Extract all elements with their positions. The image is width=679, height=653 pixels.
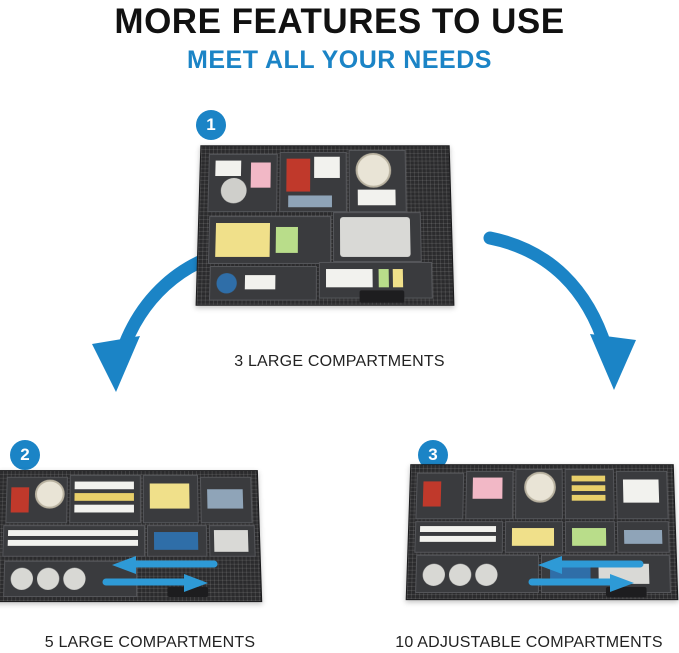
step-badge-2: 2 <box>10 440 40 470</box>
step-badge-1: 1 <box>196 110 226 140</box>
paper-clips <box>288 195 332 207</box>
red-box <box>423 481 442 506</box>
tape-rolls <box>37 568 60 590</box>
caption-3: 10 ADJUSTABLE COMPARTMENTS <box>379 634 679 652</box>
compartment <box>5 477 68 523</box>
caption-2: 5 LARGE COMPARTMENTS <box>0 634 300 652</box>
red-box <box>11 487 30 512</box>
tape-roll <box>221 178 247 203</box>
pencils <box>572 485 606 491</box>
blue-tack-box <box>216 273 237 293</box>
pencil-stack <box>75 482 134 490</box>
tape-rolls <box>10 568 33 590</box>
white-card <box>623 479 659 502</box>
pink-sticky-note <box>251 163 271 188</box>
compartment <box>209 266 317 301</box>
green-sticky-note <box>276 227 298 253</box>
white-erasers <box>326 269 373 287</box>
compartment <box>465 471 513 519</box>
compartment <box>565 521 615 553</box>
tape-rolls <box>475 564 498 586</box>
compartment <box>415 473 464 519</box>
pencils <box>74 493 133 501</box>
note-pad <box>314 157 340 178</box>
poster-canvas: MORE FEATURES TO USE MEET ALL YOUR NEEDS… <box>0 0 679 653</box>
white-strips <box>420 536 496 542</box>
compartment <box>209 525 256 557</box>
round-clock <box>35 480 65 509</box>
yellow-sticky-notes <box>150 483 190 508</box>
tape-rolls <box>422 564 445 586</box>
round-clock <box>355 153 391 188</box>
compartment <box>414 521 503 553</box>
red-box <box>286 159 310 192</box>
compartment <box>279 152 347 212</box>
pencils <box>572 476 606 482</box>
yellow-sticky-notes <box>215 223 270 257</box>
compartment <box>208 216 331 264</box>
compartment <box>505 521 563 553</box>
compartment <box>617 521 670 553</box>
compartment <box>333 212 422 262</box>
drawer-handle <box>360 290 405 302</box>
green-tab <box>379 269 389 287</box>
paper-clips <box>207 489 243 508</box>
compartment <box>69 475 141 523</box>
compartment <box>143 475 199 523</box>
page-subtitle: MEET ALL YOUR NEEDS <box>0 46 679 75</box>
compartment <box>147 525 207 557</box>
eraser <box>245 275 276 289</box>
compartment <box>565 469 615 519</box>
green-sticky-note <box>572 528 606 546</box>
pink-sticky-note <box>473 478 503 499</box>
compartment <box>616 471 669 519</box>
blue-box <box>154 532 198 550</box>
expand-double-arrow-icon-right <box>522 556 650 592</box>
compartment <box>349 150 407 212</box>
round-clock <box>524 472 556 503</box>
white-strips <box>8 540 138 546</box>
paper-clips <box>624 530 662 544</box>
calculator-keys <box>214 530 249 552</box>
yellow-sticky-notes <box>512 528 554 546</box>
paper-stack <box>215 161 241 176</box>
compartment <box>200 477 253 523</box>
pencils <box>572 495 606 501</box>
compartment <box>207 154 277 212</box>
caption-1: 3 LARGE COMPARTMENTS <box>0 353 679 371</box>
tape-rolls <box>449 564 472 586</box>
compartment <box>415 555 539 593</box>
curved-arrow-down-right-icon <box>480 228 660 398</box>
compartment <box>515 469 563 519</box>
calculator <box>340 217 411 257</box>
white-strips <box>8 530 138 536</box>
tape-rolls <box>63 568 86 590</box>
page-title: MORE FEATURES TO USE <box>0 2 679 42</box>
white-strips <box>420 526 496 532</box>
yellow-tab <box>393 269 403 287</box>
compartment <box>2 525 145 557</box>
expand-double-arrow-icon-left <box>96 556 224 592</box>
white-card <box>358 190 396 206</box>
product-image-1 <box>196 145 455 305</box>
ruler <box>74 505 134 513</box>
